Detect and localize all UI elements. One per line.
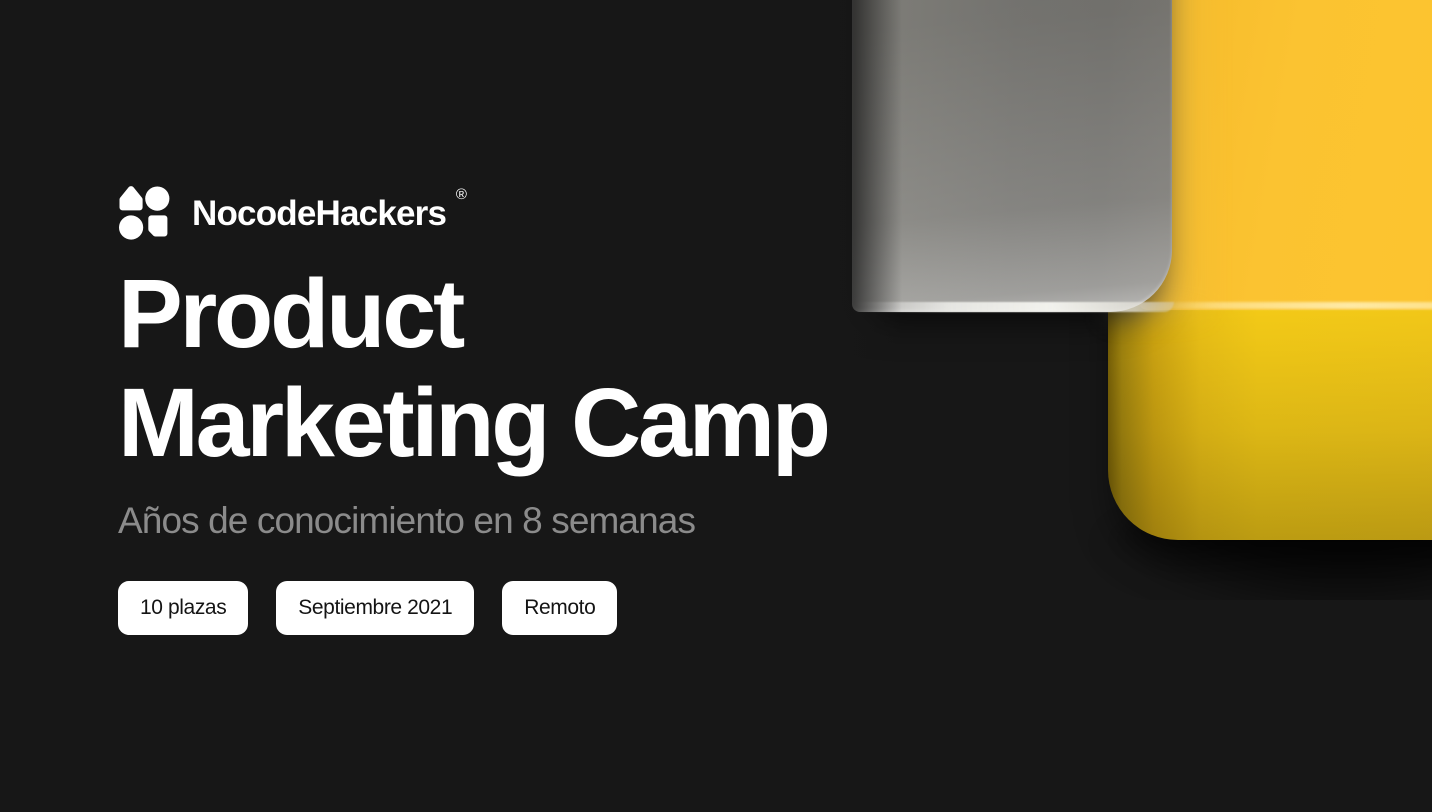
yellow-panel-back xyxy=(1108,0,1432,540)
page-title-line-2: Marketing Camp xyxy=(118,369,918,478)
panel-blend-glow xyxy=(1112,0,1208,314)
brand-name: NocodeHackers ® xyxy=(192,196,466,231)
yellow-panel-front xyxy=(1138,0,1432,310)
yellow-panel-shadow xyxy=(1098,492,1432,600)
registered-trademark-icon: ® xyxy=(456,187,466,202)
page-title-line-1: Product xyxy=(118,260,918,369)
pill-date[interactable]: Septiembre 2021 xyxy=(276,581,474,635)
hero-banner: NocodeHackers ® Product Marketing Camp A… xyxy=(0,0,1432,812)
brand-name-text: NocodeHackers xyxy=(192,194,446,233)
brand-lockup: NocodeHackers ® xyxy=(118,182,918,244)
yellow-panel-edge-highlight xyxy=(1138,302,1432,309)
page-subtitle: Años de conocimiento en 8 semanas xyxy=(118,499,918,543)
nocodehackers-mark-icon xyxy=(118,184,170,242)
hero-content: NocodeHackers ® Product Marketing Camp A… xyxy=(118,182,918,635)
pill-seats[interactable]: 10 plazas xyxy=(118,581,248,635)
hero-pill-group: 10 plazas Septiembre 2021 Remoto xyxy=(118,581,918,635)
pill-location[interactable]: Remoto xyxy=(502,581,617,635)
page-title: Product Marketing Camp xyxy=(118,260,918,477)
